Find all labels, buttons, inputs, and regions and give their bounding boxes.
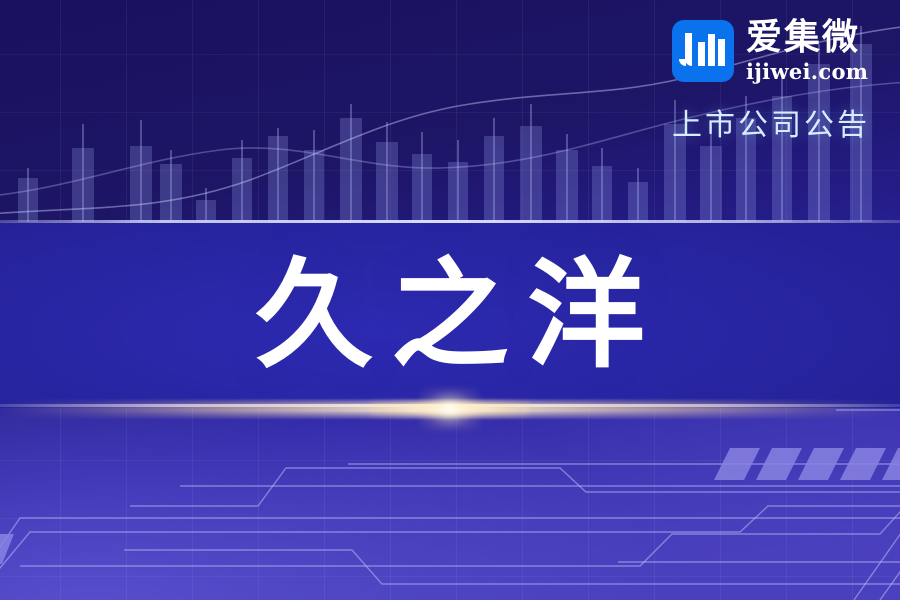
brand-logo-block: 爱集微 ijiwei.com 上市公司公告: [672, 20, 882, 150]
circuit-trace-8: [20, 490, 900, 566]
bar-chart-logo-icon: [672, 20, 734, 82]
circuit-trace-5: [124, 550, 900, 584]
circuit-trace-10: [854, 526, 900, 600]
circuit-trace-4: [0, 506, 900, 592]
announcement-banner: 久之洋: [0, 0, 900, 600]
circuit-decoration: [0, 406, 900, 600]
brand-text-group: 爱集微 ijiwei.com: [746, 20, 868, 82]
brand-url: ijiwei.com: [746, 61, 868, 82]
brand-logo-row: 爱集微 ijiwei.com: [672, 20, 882, 82]
circuit-trace-11: [880, 530, 900, 600]
category-label: 上市公司公告: [672, 100, 882, 144]
brand-name-cn: 爱集微: [746, 20, 868, 56]
circuit-trace-3: [0, 518, 900, 576]
company-name-title: 久之洋: [0, 222, 900, 408]
